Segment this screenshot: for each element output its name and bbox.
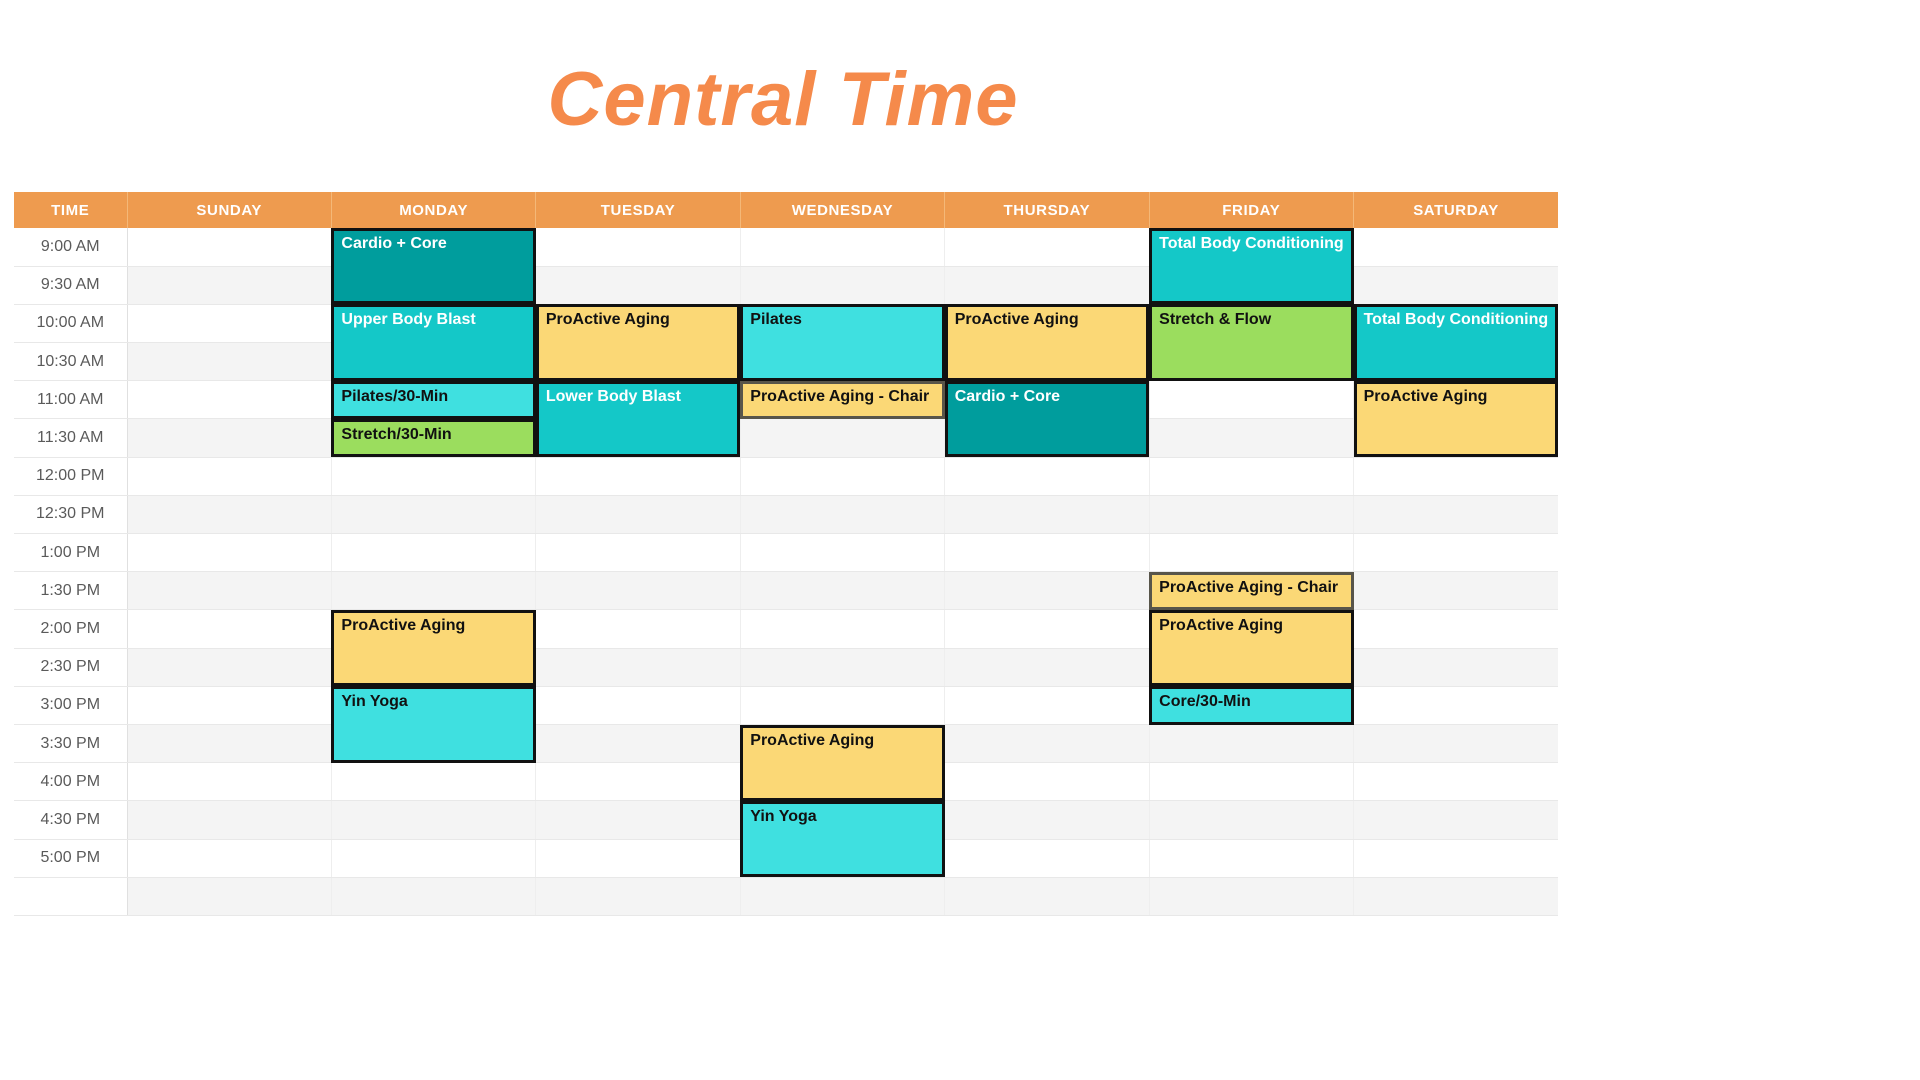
column-header-tuesday: TUESDAY	[536, 192, 740, 228]
time-label: 11:00 AM	[14, 381, 127, 419]
schedule-cell[interactable]	[127, 228, 331, 266]
schedule-cell[interactable]	[127, 266, 331, 304]
schedule-cell[interactable]	[1149, 457, 1353, 495]
schedule-cell[interactable]	[127, 495, 331, 533]
schedule-cell[interactable]	[945, 572, 1149, 610]
column-header-thursday: THURSDAY	[945, 192, 1149, 228]
schedule-cell[interactable]	[331, 572, 535, 610]
schedule-cell[interactable]	[536, 648, 740, 686]
schedule-row: 12:30 PM	[14, 495, 1558, 533]
schedule-cell[interactable]	[127, 877, 331, 915]
schedule-cell[interactable]	[945, 801, 1149, 839]
time-label: 4:00 PM	[14, 763, 127, 801]
schedule-cell[interactable]	[127, 534, 331, 572]
schedule-cell[interactable]	[740, 419, 944, 457]
class-block[interactable]: Total Body Conditioning	[1149, 228, 1353, 304]
schedule-cell[interactable]	[536, 877, 740, 915]
class-block[interactable]: Cardio + Core	[945, 381, 1149, 457]
class-block[interactable]: Stretch & Flow	[1149, 304, 1353, 380]
time-label: 3:00 PM	[14, 686, 127, 724]
class-block[interactable]: Cardio + Core	[331, 228, 535, 304]
class-block[interactable]: Pilates	[740, 304, 944, 380]
schedule-cell[interactable]	[1354, 610, 1558, 648]
time-label: 2:30 PM	[14, 648, 127, 686]
schedule-cell[interactable]	[536, 228, 740, 266]
schedule-cell[interactable]	[740, 610, 944, 648]
class-block[interactable]: Yin Yoga	[740, 801, 944, 877]
class-block[interactable]: Total Body Conditioning	[1354, 304, 1558, 380]
schedule-cell[interactable]	[331, 801, 535, 839]
schedule-cell[interactable]	[740, 877, 944, 915]
schedule-cell[interactable]	[1354, 801, 1558, 839]
column-header-sunday: SUNDAY	[127, 192, 331, 228]
time-label: 5:00 PM	[14, 839, 127, 877]
schedule-cell[interactable]	[1354, 686, 1558, 724]
schedule-cell[interactable]	[1354, 572, 1558, 610]
schedule-cell[interactable]	[1149, 495, 1353, 533]
schedule-cell[interactable]	[740, 495, 944, 533]
schedule-cell[interactable]	[1354, 763, 1558, 801]
schedule-cell[interactable]	[536, 839, 740, 877]
schedule-cell[interactable]	[945, 686, 1149, 724]
schedule-cell[interactable]	[331, 877, 535, 915]
schedule-cell[interactable]	[1354, 228, 1558, 266]
schedule-cell[interactable]	[127, 648, 331, 686]
schedule-cell[interactable]	[536, 572, 740, 610]
schedule-cell[interactable]	[945, 266, 1149, 304]
schedule-cell[interactable]	[127, 419, 331, 457]
schedule-cell[interactable]	[1354, 457, 1558, 495]
class-block[interactable]: Upper Body Blast	[331, 304, 535, 380]
page-title: Central Time	[0, 62, 1566, 138]
schedule-cell[interactable]	[945, 457, 1149, 495]
schedule-cell[interactable]	[945, 495, 1149, 533]
schedule-cell[interactable]	[945, 877, 1149, 915]
class-block[interactable]: ProActive Aging	[1149, 610, 1353, 686]
column-header-wednesday: WEDNESDAY	[740, 192, 944, 228]
schedule-cell[interactable]	[331, 495, 535, 533]
schedule-cell[interactable]	[1149, 724, 1353, 762]
schedule-cell[interactable]	[740, 228, 944, 266]
time-label: 1:00 PM	[14, 534, 127, 572]
schedule-cell[interactable]	[331, 839, 535, 877]
schedule-cell[interactable]	[331, 534, 535, 572]
schedule-cell[interactable]	[331, 457, 535, 495]
class-block[interactable]: Pilates/30-Min	[331, 381, 535, 419]
schedule-cell[interactable]	[331, 763, 535, 801]
schedule-cell[interactable]	[1149, 534, 1353, 572]
time-label: 4:30 PM	[14, 801, 127, 839]
schedule-cell[interactable]	[127, 381, 331, 419]
time-label: 9:00 AM	[14, 228, 127, 266]
schedule-row: 1:00 PM	[14, 534, 1558, 572]
class-block[interactable]: ProActive Aging	[740, 725, 944, 801]
column-header-time: TIME	[14, 192, 127, 228]
schedule-cell[interactable]	[1354, 495, 1558, 533]
schedule-cell[interactable]	[945, 228, 1149, 266]
schedule-cell[interactable]	[1354, 266, 1558, 304]
column-header-friday: FRIDAY	[1149, 192, 1353, 228]
schedule-header-row: TIMESUNDAYMONDAYTUESDAYWEDNESDAYTHURSDAY…	[14, 192, 1558, 228]
schedule-row: 11:30 AM	[14, 419, 1558, 457]
schedule-cell[interactable]	[127, 839, 331, 877]
schedule-cell[interactable]	[740, 266, 944, 304]
schedule-cell[interactable]	[127, 457, 331, 495]
schedule-cell[interactable]	[536, 724, 740, 762]
schedule-cell[interactable]	[1149, 763, 1353, 801]
schedule-cell[interactable]	[740, 648, 944, 686]
class-block[interactable]: ProActive Aging	[1354, 381, 1558, 457]
time-label	[14, 877, 127, 915]
time-label: 12:00 PM	[14, 457, 127, 495]
schedule-cell[interactable]	[740, 457, 944, 495]
schedule-cell[interactable]	[127, 304, 331, 342]
schedule-cell[interactable]	[1149, 839, 1353, 877]
schedule-cell[interactable]	[127, 572, 331, 610]
schedule-cell[interactable]	[536, 266, 740, 304]
schedule-cell[interactable]	[536, 457, 740, 495]
schedule-cell[interactable]	[127, 763, 331, 801]
schedule-cell[interactable]	[1149, 877, 1353, 915]
schedule-cell[interactable]	[536, 610, 740, 648]
time-label: 12:30 PM	[14, 495, 127, 533]
schedule-cell[interactable]	[536, 534, 740, 572]
class-block[interactable]: ProActive Aging - Chair	[1149, 572, 1353, 610]
schedule-cell[interactable]	[536, 495, 740, 533]
time-label: 11:30 AM	[14, 419, 127, 457]
schedule-cell[interactable]	[1354, 534, 1558, 572]
column-header-monday: MONDAY	[331, 192, 535, 228]
schedule-cell[interactable]	[536, 686, 740, 724]
schedule-cell[interactable]	[1354, 877, 1558, 915]
schedule-cell[interactable]	[945, 534, 1149, 572]
schedule-cell[interactable]	[127, 610, 331, 648]
schedule-row	[14, 877, 1558, 915]
time-label: 3:30 PM	[14, 724, 127, 762]
schedule-cell[interactable]	[945, 839, 1149, 877]
schedule-cell[interactable]	[740, 572, 944, 610]
schedule-cell[interactable]	[536, 801, 740, 839]
schedule-cell[interactable]	[127, 724, 331, 762]
schedule-cell[interactable]	[945, 610, 1149, 648]
time-label: 10:00 AM	[14, 304, 127, 342]
column-header-saturday: SATURDAY	[1354, 192, 1558, 228]
schedule-cell[interactable]	[1149, 419, 1353, 457]
class-block[interactable]: Core/30-Min	[1149, 686, 1353, 724]
schedule-cell[interactable]	[1354, 839, 1558, 877]
time-label: 2:00 PM	[14, 610, 127, 648]
schedule-cell[interactable]	[536, 763, 740, 801]
time-label: 1:30 PM	[14, 572, 127, 610]
schedule-cell[interactable]	[945, 648, 1149, 686]
schedule-page: Central Time TIMESUNDAYMONDAYTUESDAYWEDN…	[0, 0, 1920, 1080]
class-block[interactable]: ProActive Aging	[536, 304, 740, 380]
schedule-cell[interactable]	[740, 534, 944, 572]
schedule-cell[interactable]	[945, 724, 1149, 762]
class-block[interactable]: Lower Body Blast	[536, 381, 740, 457]
time-label: 10:30 AM	[14, 343, 127, 381]
schedule-row: 12:00 PM	[14, 457, 1558, 495]
schedule-cell[interactable]	[1149, 381, 1353, 419]
time-label: 9:30 AM	[14, 266, 127, 304]
schedule-cell[interactable]	[1354, 724, 1558, 762]
schedule-cell[interactable]	[1149, 801, 1353, 839]
schedule-cell[interactable]	[945, 763, 1149, 801]
class-block[interactable]: ProActive Aging	[945, 304, 1149, 380]
class-block[interactable]: Stretch/30-Min	[331, 419, 535, 457]
schedule-cell[interactable]	[127, 343, 331, 381]
schedule-cell[interactable]	[127, 686, 331, 724]
schedule-cell[interactable]	[740, 686, 944, 724]
schedule-cell[interactable]	[1354, 648, 1558, 686]
class-block[interactable]: ProActive Aging - Chair	[740, 381, 944, 419]
schedule-cell[interactable]	[127, 801, 331, 839]
class-block[interactable]: ProActive Aging	[331, 610, 535, 686]
class-block[interactable]: Yin Yoga	[331, 686, 535, 762]
